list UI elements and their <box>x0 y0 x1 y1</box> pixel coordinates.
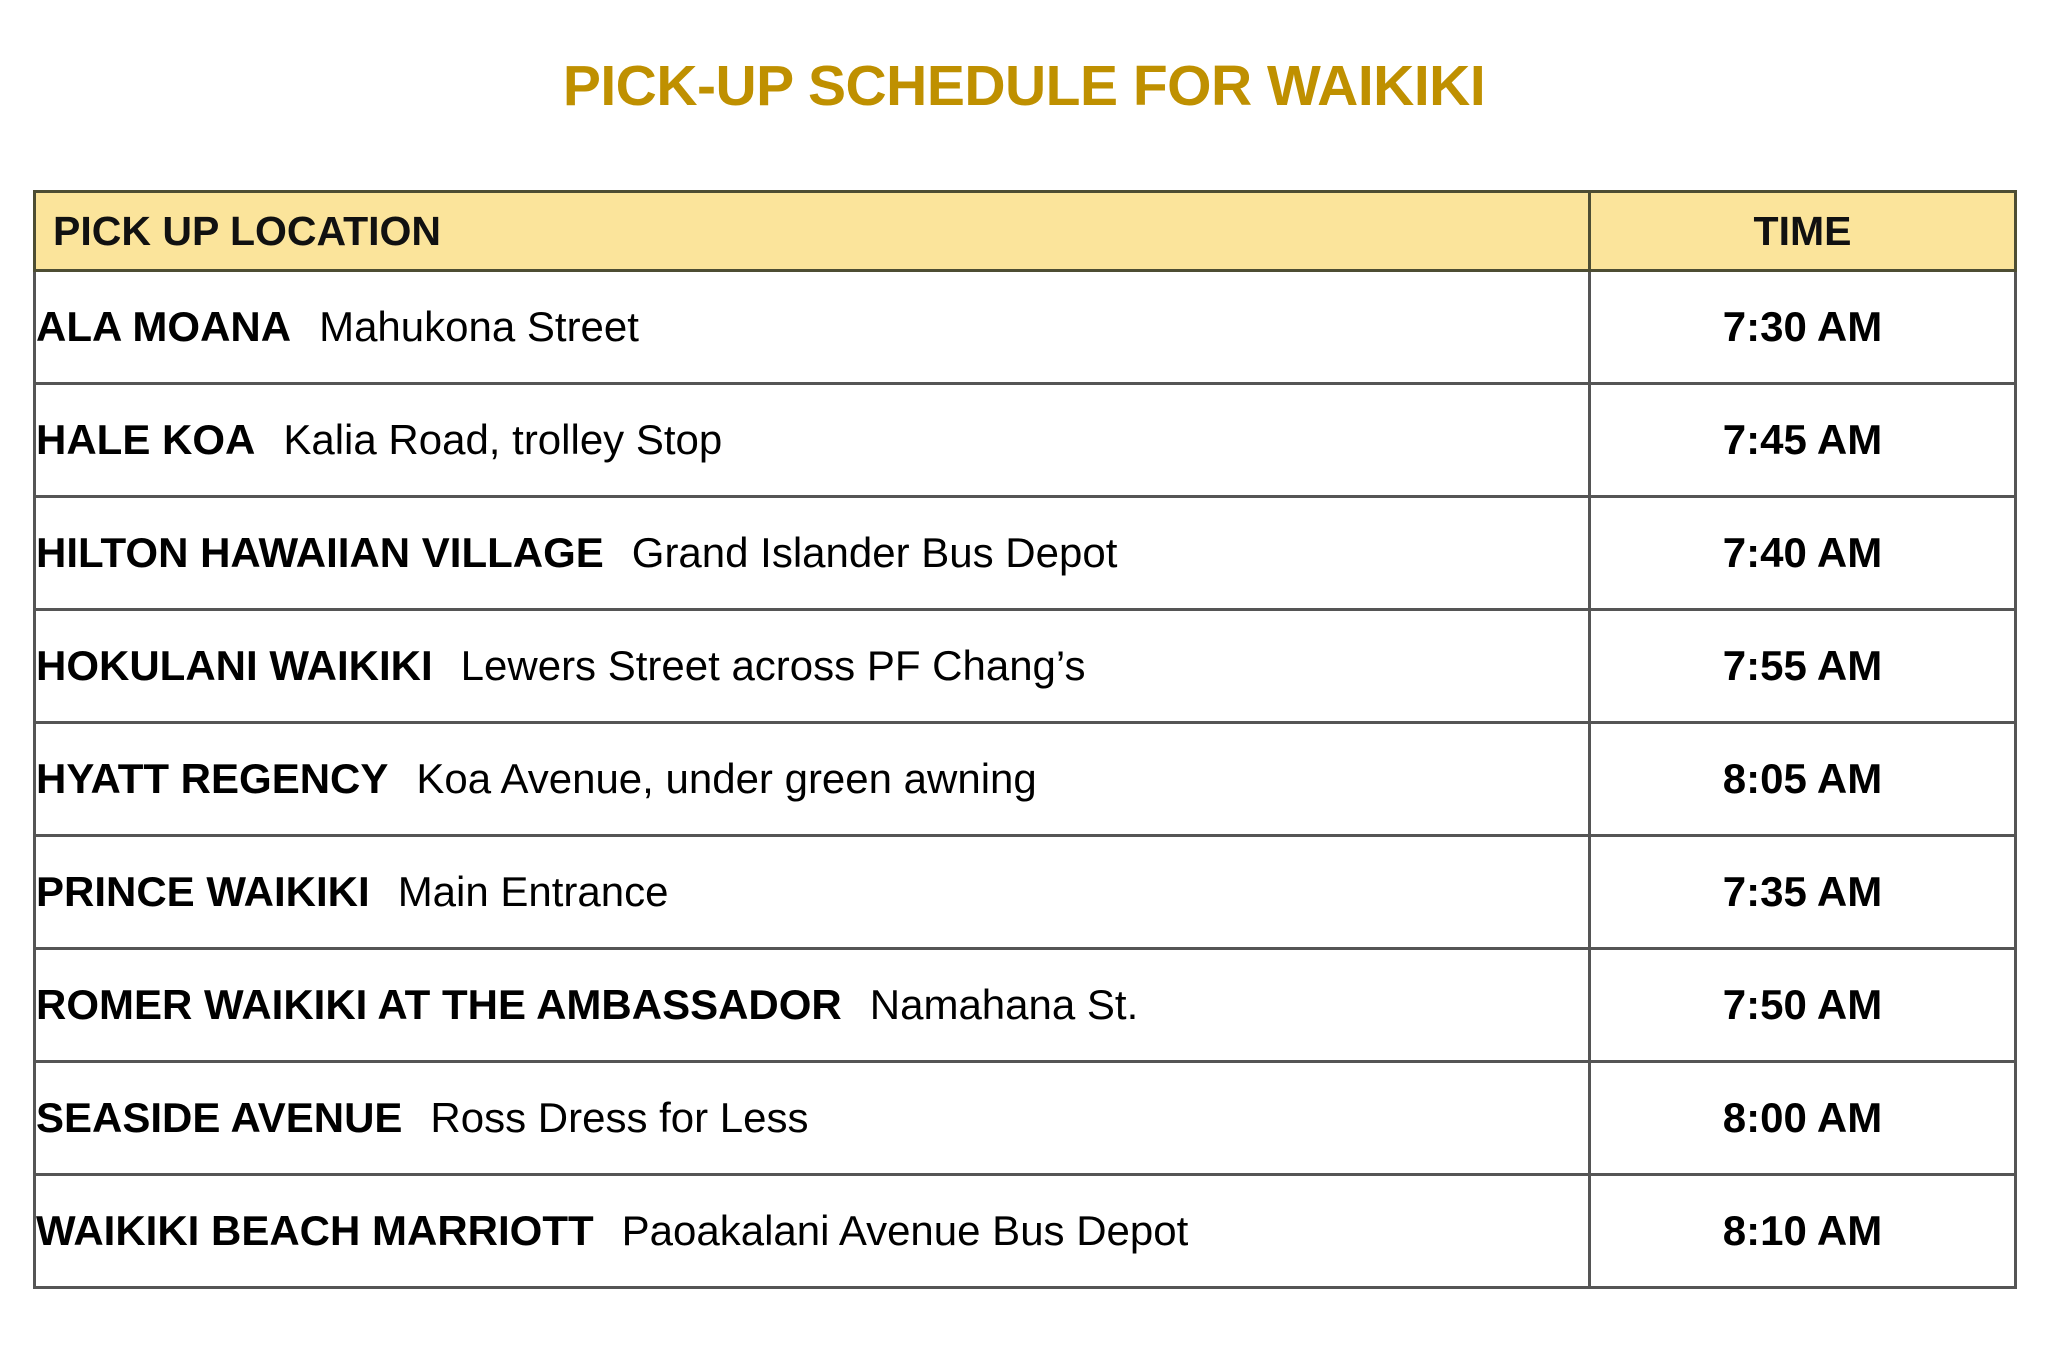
pickup-time-value: 8:00 AM <box>1723 1094 1883 1141</box>
pickup-time-value: 7:30 AM <box>1723 303 1883 350</box>
cell-pickup-time: 7:50 AM <box>1590 949 2016 1062</box>
cell-pickup-location: ROMER WAIKIKI AT THE AMBASSADORNamahana … <box>35 949 1590 1062</box>
cell-pickup-location: HYATT REGENCYKoa Avenue, under green awn… <box>35 723 1590 836</box>
pickup-time-value: 7:35 AM <box>1723 868 1883 915</box>
cell-pickup-time: 7:55 AM <box>1590 610 2016 723</box>
location-name: HOKULANI WAIKIKI <box>36 642 433 689</box>
location-detail: Koa Avenue, under green awning <box>388 755 1036 802</box>
page-title: PICK-UP SCHEDULE FOR WAIKIKI <box>0 58 2048 115</box>
cell-pickup-time: 8:10 AM <box>1590 1175 2016 1288</box>
pickup-time-value: 7:40 AM <box>1723 529 1883 576</box>
table-row: ALA MOANAMahukona Street7:30 AM <box>35 271 2016 384</box>
cell-pickup-time: 8:05 AM <box>1590 723 2016 836</box>
column-header-time: TIME <box>1590 192 2016 271</box>
table-row: WAIKIKI BEACH MARRIOTTPaoakalani Avenue … <box>35 1175 2016 1288</box>
cell-pickup-location: HALE KOAKalia Road, trolley Stop <box>35 384 1590 497</box>
pickup-time-value: 8:10 AM <box>1723 1207 1883 1254</box>
table-row: SEASIDE AVENUERoss Dress for Less8:00 AM <box>35 1062 2016 1175</box>
location-name: HYATT REGENCY <box>36 755 388 802</box>
header-row: PICK UP LOCATION TIME <box>35 192 2016 271</box>
table-header: PICK UP LOCATION TIME <box>35 192 2016 271</box>
location-detail: Paoakalani Avenue Bus Depot <box>594 1207 1189 1254</box>
column-header-time-label: TIME <box>1591 211 2014 252</box>
pickup-schedule-table: PICK UP LOCATION TIME ALA MOANAMahukona … <box>33 190 2017 1289</box>
location-name: SEASIDE AVENUE <box>36 1094 402 1141</box>
column-header-location-label: PICK UP LOCATION <box>36 211 1588 252</box>
column-header-location: PICK UP LOCATION <box>35 192 1590 271</box>
cell-pickup-time: 7:45 AM <box>1590 384 2016 497</box>
cell-pickup-location: SEASIDE AVENUERoss Dress for Less <box>35 1062 1590 1175</box>
location-detail: Namahana St. <box>842 981 1139 1028</box>
location-name: ALA MOANA <box>36 303 291 350</box>
cell-pickup-location: HILTON HAWAIIAN VILLAGEGrand Islander Bu… <box>35 497 1590 610</box>
location-detail: Main Entrance <box>370 868 669 915</box>
location-detail: Lewers Street across PF Chang’s <box>433 642 1086 689</box>
table-row: HALE KOAKalia Road, trolley Stop7:45 AM <box>35 384 2016 497</box>
table-row: HYATT REGENCYKoa Avenue, under green awn… <box>35 723 2016 836</box>
table-body: ALA MOANAMahukona Street7:30 AMHALE KOAK… <box>35 271 2016 1288</box>
cell-pickup-time: 7:40 AM <box>1590 497 2016 610</box>
cell-pickup-time: 7:35 AM <box>1590 836 2016 949</box>
cell-pickup-time: 7:30 AM <box>1590 271 2016 384</box>
cell-pickup-location: ALA MOANAMahukona Street <box>35 271 1590 384</box>
location-name: PRINCE WAIKIKI <box>36 868 370 915</box>
location-name: WAIKIKI BEACH MARRIOTT <box>36 1207 594 1254</box>
pickup-time-value: 7:55 AM <box>1723 642 1883 689</box>
location-detail: Grand Islander Bus Depot <box>604 529 1118 576</box>
cell-pickup-time: 8:00 AM <box>1590 1062 2016 1175</box>
location-name: HALE KOA <box>36 416 255 463</box>
location-name: HILTON HAWAIIAN VILLAGE <box>36 529 604 576</box>
schedule-table-container: PICK UP LOCATION TIME ALA MOANAMahukona … <box>33 190 2014 1289</box>
pickup-time-value: 8:05 AM <box>1723 755 1883 802</box>
table-row: ROMER WAIKIKI AT THE AMBASSADORNamahana … <box>35 949 2016 1062</box>
cell-pickup-location: PRINCE WAIKIKIMain Entrance <box>35 836 1590 949</box>
table-row: HILTON HAWAIIAN VILLAGEGrand Islander Bu… <box>35 497 2016 610</box>
table-row: HOKULANI WAIKIKILewers Street across PF … <box>35 610 2016 723</box>
location-detail: Kalia Road, trolley Stop <box>255 416 722 463</box>
location-detail: Ross Dress for Less <box>402 1094 808 1141</box>
cell-pickup-location: HOKULANI WAIKIKILewers Street across PF … <box>35 610 1590 723</box>
pickup-time-value: 7:50 AM <box>1723 981 1883 1028</box>
location-detail: Mahukona Street <box>291 303 639 350</box>
location-name: ROMER WAIKIKI AT THE AMBASSADOR <box>36 981 842 1028</box>
pickup-time-value: 7:45 AM <box>1723 416 1883 463</box>
table-row: PRINCE WAIKIKIMain Entrance7:35 AM <box>35 836 2016 949</box>
cell-pickup-location: WAIKIKI BEACH MARRIOTTPaoakalani Avenue … <box>35 1175 1590 1288</box>
